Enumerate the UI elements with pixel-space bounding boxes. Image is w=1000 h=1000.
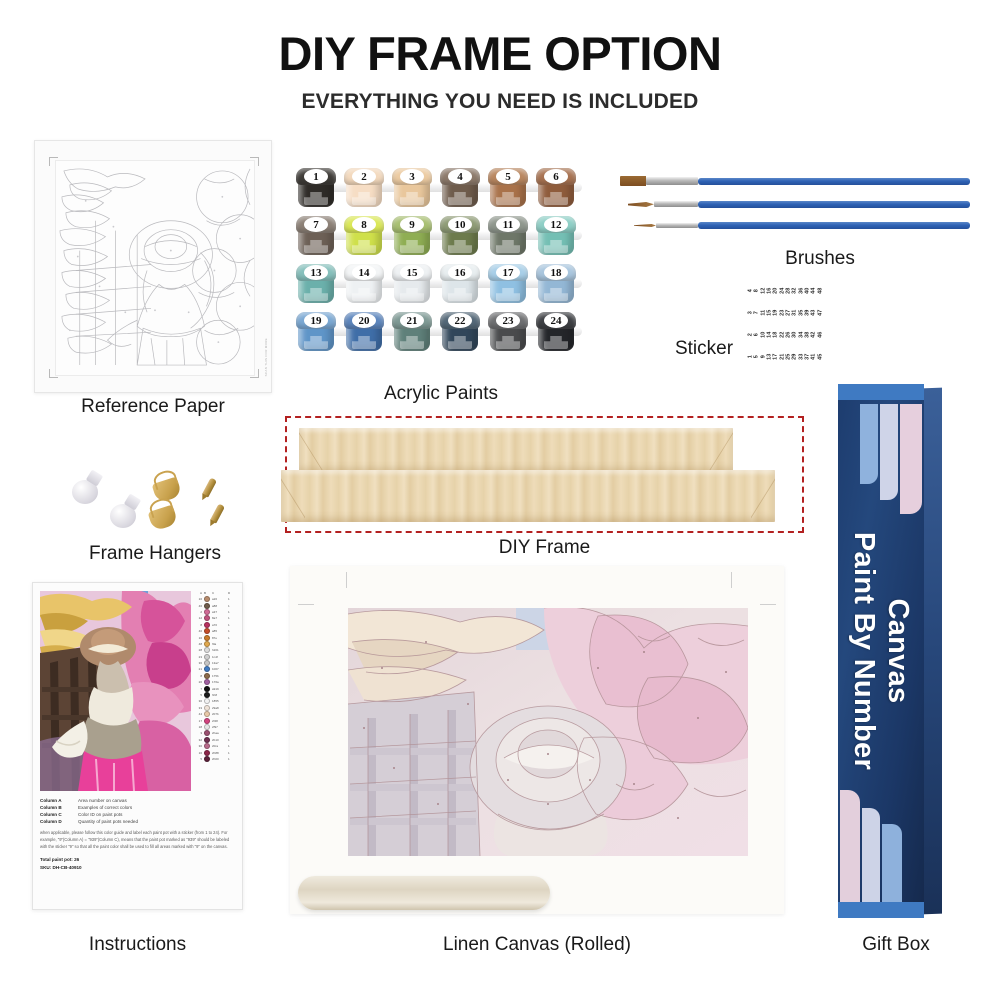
legend-color-swatch (204, 698, 210, 704)
legend-quantity: 1 (228, 629, 233, 633)
gold-d-ring (148, 504, 179, 531)
paint-pot: 4 (440, 168, 480, 208)
total-paint-pot-label: Total paint pot: 26 (40, 856, 235, 864)
legend-area-number: 40 (194, 629, 202, 633)
legend-color-swatch (204, 743, 210, 749)
legend-quantity: 1 (228, 642, 233, 646)
legend-color-code: 20ra (212, 744, 226, 748)
gift-box: Canvas Paint By Number (838, 384, 942, 918)
sticker-number: 30 (793, 332, 799, 338)
paint-pot-number: 11 (496, 217, 520, 232)
instructions-column-line: Column CColor ID on paint pots (40, 811, 235, 818)
canvas-roll (298, 876, 550, 910)
legend-color-code: a37 (212, 610, 226, 614)
wood-frame-bar (281, 470, 775, 522)
legend-color-code: f0a (212, 642, 226, 646)
legend-color-code: 29a8 (212, 706, 226, 710)
caption-linen-canvas: Linen Canvas (Rolled) (290, 934, 784, 956)
legend-color-swatch (204, 730, 210, 736)
legend-area-number: 30 (194, 699, 202, 703)
legend-area-number: 30 (194, 744, 202, 748)
sticker-number: 42 (812, 332, 818, 338)
legend-color-swatch (204, 673, 210, 679)
wood-frame-bar (299, 428, 733, 472)
legend-quantity: 1 (228, 757, 233, 761)
legend-quantity: 1 (228, 648, 233, 652)
legend-color-swatch (204, 628, 210, 634)
legend-area-number: 16 (194, 751, 202, 755)
legend-quantity: 1 (228, 674, 233, 678)
instructions-column-value: Quantity of paint pots needed (78, 818, 138, 825)
legend-color-code: 175b (212, 674, 226, 678)
instructions-column-value: Color ID on paint pots (78, 811, 122, 818)
diy-frame-highlight-box (285, 416, 804, 533)
legend-color-code: a70 (212, 623, 226, 627)
paint-pot-number: 9 (400, 217, 424, 232)
caption-diy-frame: DIY Frame (285, 537, 804, 559)
paint-pot: 1 (296, 168, 336, 208)
legend-color-swatch (204, 641, 210, 647)
instructions-column-definitions: Column AArea number on canvasColumn BExa… (40, 797, 235, 825)
sticker-number: 46 (818, 332, 824, 338)
instructions-column-value: Area number on canvas (78, 797, 127, 804)
legend-area-number: 28 (194, 648, 202, 652)
legend-color-swatch (204, 609, 210, 615)
legend-color-code: 2b10 (212, 738, 226, 742)
legend-area-number: 17 (194, 719, 202, 723)
screw (202, 477, 217, 497)
paint-pot-number: 14 (352, 265, 376, 280)
legend-area-number: 33 (194, 706, 202, 710)
legend-color-swatch (204, 692, 210, 698)
legend-color-code: 2haa (212, 731, 226, 735)
legend-row: 52h001 (194, 756, 235, 762)
paint-pot: 14 (344, 264, 384, 304)
reference-paper-lineart (55, 160, 255, 376)
caption-reference-paper: Reference Paper (34, 396, 272, 418)
sticker-number: 47 (818, 310, 824, 316)
sticker-number: 18 (774, 332, 780, 338)
paint-pot: 3 (392, 168, 432, 208)
legend-color-swatch (204, 654, 210, 660)
legend-color-swatch (204, 679, 210, 685)
legend-color-swatch (204, 666, 210, 672)
paint-pot-number: 24 (544, 313, 568, 328)
paint-pot-number: 5 (496, 169, 520, 184)
paint-pot: 23 (488, 312, 528, 352)
gift-box-front: Canvas Paint By Number (838, 384, 924, 918)
paint-pot: 13 (296, 264, 336, 304)
legend-area-number: 7 (194, 687, 202, 691)
legend-quantity: 1 (228, 687, 233, 691)
legend-area-number: 5 (194, 757, 202, 761)
paint-pot-number: 22 (448, 313, 472, 328)
legend-color-swatch (204, 603, 210, 609)
paint-pot-number: 15 (400, 265, 424, 280)
legend-area-number: 3 (194, 731, 202, 735)
infographic-root: DIY FRAME OPTION EVERYTHING YOU NEED IS … (0, 0, 1000, 1000)
sku-label: SKU: DH-CB-40910 (40, 864, 235, 872)
legend-color-code: 2f97 (212, 725, 226, 729)
legend-header-a: A (194, 591, 202, 595)
page-subtitle: EVERYTHING YOU NEED IS INCLUDED (0, 90, 1000, 114)
sticker-number: 32 (793, 288, 799, 294)
legend-quantity: 1 (228, 725, 233, 729)
instructions-column-line: Column AArea number on canvas (40, 797, 235, 804)
legend-quantity: 1 (228, 623, 233, 627)
paint-pot: 12 (536, 216, 576, 256)
legend-area-number: 36 (194, 661, 202, 665)
legend-area-number: 46 (194, 604, 202, 608)
caption-sticker: Sticker (664, 338, 744, 360)
round-brush (620, 199, 970, 211)
legend-quantity: 1 (228, 610, 233, 614)
paint-pot: 21 (392, 312, 432, 352)
legend-area-number: 20 (194, 680, 202, 684)
legend-color-code: a26 (212, 597, 226, 601)
sticker-number: 5 (755, 354, 761, 360)
paint-pot-number: 7 (304, 217, 328, 232)
sticker-number: 41 (812, 354, 818, 360)
legend-quantity: 1 (228, 636, 233, 640)
instructions-sheet: A B C D 16a26146a8812a371128a718a70140a8… (32, 582, 243, 910)
instructions-column-key: Column C (40, 811, 72, 818)
brushes-group (620, 176, 970, 246)
legend-quantity: 1 (228, 744, 233, 748)
sticker-number: 44 (812, 288, 818, 294)
caption-brushes: Brushes (760, 248, 880, 270)
legend-area-number: 5 (194, 693, 202, 697)
sticker-number: 43 (812, 310, 818, 316)
sticker-number: 48 (818, 288, 824, 294)
caption-instructions: Instructions (32, 934, 243, 956)
linen-canvas-rolled (290, 566, 784, 914)
legend-header-row: A B C D (194, 591, 235, 595)
legend-quantity: 1 (228, 604, 233, 608)
instructions-color-legend: A B C D 16a26146a8812a371128a718a70140a8… (191, 591, 235, 791)
paint-pot-number: 21 (400, 313, 424, 328)
instructions-column-key: Column A (40, 797, 72, 804)
paint-pot: 6 (536, 168, 576, 208)
legend-color-code: 2h00 (212, 757, 226, 761)
legend-quantity: 1 (228, 597, 233, 601)
frame-hangers-group (66, 470, 246, 535)
linen-canvas-lineart (348, 608, 748, 856)
legend-color-swatch (204, 622, 210, 628)
caption-acrylic-paints: Acrylic Paints (296, 383, 586, 405)
sticker-number: 17 (774, 354, 780, 360)
legend-quantity: 1 (228, 655, 233, 659)
paint-pot-number: 4 (448, 169, 472, 184)
sticker-sheet: 1234567891011121314151617181920212223242… (748, 288, 824, 360)
page-title: DIY FRAME OPTION (0, 26, 1000, 81)
paint-pot: 19 (296, 312, 336, 352)
legend-area-number: 48 (194, 642, 202, 646)
legend-area-number: 23 (194, 655, 202, 659)
sticker-number: 7 (755, 310, 761, 316)
sticker-number: 31 (793, 310, 799, 316)
legend-color-swatch (204, 686, 210, 692)
legend-color-code: a88 (212, 604, 226, 608)
sticker-number: 20 (774, 288, 780, 294)
acrylic-paints-group: 123456789101112131415161718192021222324 (296, 166, 586, 358)
legend-area-number: 8 (194, 674, 202, 678)
legend-color-code: 2h88 (212, 751, 226, 755)
legend-color-code: 1n4f (212, 655, 226, 659)
legend-color-swatch (204, 737, 210, 743)
legend-color-code: 207b (212, 712, 226, 716)
paint-pot: 2 (344, 168, 384, 208)
legend-color-code: 1855 (212, 699, 226, 703)
paint-pot-number: 10 (448, 217, 472, 232)
instructions-column-line: Column BExamples of correct colors (40, 804, 235, 811)
reference-paper-side-text: SCAN THIS FOR MORE (264, 338, 268, 376)
legend-quantity: 1 (228, 712, 233, 716)
legend-color-swatch (204, 615, 210, 621)
sticker-column: 45464748 (818, 288, 824, 360)
gift-box-label: Canvas Paint By Number (838, 384, 924, 918)
white-hanger (72, 480, 98, 504)
paint-pot: 20 (344, 312, 384, 352)
legend-area-number: 2 (194, 610, 202, 614)
legend-color-code: 8a7 (212, 616, 226, 620)
gift-box-side (922, 388, 942, 915)
legend-quantity: 1 (228, 616, 233, 620)
paint-pot-number: 16 (448, 265, 472, 280)
legend-quantity: 1 (228, 680, 233, 684)
instructions-column-line: Column DQuantity of paint pots needed (40, 818, 235, 825)
legend-color-code: 87e (212, 636, 226, 640)
legend-area-number: 44 (194, 712, 202, 716)
paint-pot: 18 (536, 264, 576, 304)
legend-quantity: 1 (228, 751, 233, 755)
sticker-number: 45 (818, 354, 824, 360)
caption-gift-box: Gift Box (836, 934, 956, 956)
legend-area-number: 12 (194, 616, 202, 620)
legend-quantity: 1 (228, 661, 233, 665)
paint-pot-number: 13 (304, 265, 328, 280)
legend-color-code: 176a (212, 680, 226, 684)
flat-brush (620, 176, 970, 188)
paint-pot: 10 (440, 216, 480, 256)
paint-pot-number: 8 (352, 217, 376, 232)
legend-area-number: 8 (194, 623, 202, 627)
legend-color-swatch (204, 635, 210, 641)
paint-pot: 5 (488, 168, 528, 208)
legend-header-b: B (204, 591, 210, 595)
paint-pot-number: 23 (496, 313, 520, 328)
sticker-number: 6 (755, 332, 761, 338)
instructions-column-key: Column B (40, 804, 72, 811)
legend-area-number: 21 (194, 667, 202, 671)
paint-pot-number: 6 (544, 169, 568, 184)
legend-color-code: a919 (212, 687, 226, 691)
paint-pot: 24 (536, 312, 576, 352)
legend-color-swatch (204, 711, 210, 717)
paint-pot: 17 (488, 264, 528, 304)
legend-color-code: 1007 (212, 667, 226, 671)
paint-pot: 16 (440, 264, 480, 304)
legend-quantity: 1 (228, 738, 233, 742)
legend-quantity: 1 (228, 667, 233, 671)
legend-area-number: 10 (194, 636, 202, 640)
legend-quantity: 1 (228, 693, 233, 697)
legend-quantity: 1 (228, 731, 233, 735)
instructions-column-key: Column D (40, 818, 72, 825)
legend-color-swatch (204, 705, 210, 711)
paint-pot-number: 12 (544, 217, 568, 232)
paint-pot: 8 (344, 216, 384, 256)
liner-brush (620, 220, 970, 232)
legend-quantity: 1 (228, 706, 233, 710)
legend-quantity: 1 (228, 719, 233, 723)
paint-pot: 15 (392, 264, 432, 304)
legend-color-swatch (204, 718, 210, 724)
legend-color-swatch (204, 647, 210, 653)
legend-area-number: 32 (194, 738, 202, 742)
paint-pot-number: 19 (304, 313, 328, 328)
legend-quantity: 1 (228, 699, 233, 703)
caption-frame-hangers: Frame Hangers (40, 543, 270, 565)
sticker-number: 19 (774, 310, 780, 316)
legend-color-swatch (204, 660, 210, 666)
paint-pot: 7 (296, 216, 336, 256)
legend-color-code: hh8 (212, 693, 226, 697)
legend-header-d: D (228, 591, 233, 595)
white-hanger (110, 504, 136, 528)
paint-pot: 9 (392, 216, 432, 256)
legend-color-code: h201 (212, 648, 226, 652)
paint-pot-number: 18 (544, 265, 568, 280)
reference-paper-sheet: SCAN THIS FOR MORE (34, 140, 272, 393)
paint-pot: 11 (488, 216, 528, 256)
legend-area-number: 18 (194, 725, 202, 729)
sticker-number: 8 (755, 288, 761, 294)
instructions-paragraph: when applicable, please follow this colo… (40, 830, 235, 850)
paint-pot-number: 2 (352, 169, 376, 184)
legend-color-swatch (204, 596, 210, 602)
paint-pot-number: 3 (400, 169, 424, 184)
legend-area-number: 16 (194, 597, 202, 601)
legend-color-code: 2f48 (212, 719, 226, 723)
legend-color-swatch (204, 750, 210, 756)
sticker-number: 29 (793, 354, 799, 360)
legend-color-swatch (204, 724, 210, 730)
legend-header-c: C (212, 591, 226, 595)
legend-color-swatch (204, 756, 210, 762)
screw (210, 503, 225, 523)
legend-color-code: 13a7 (212, 661, 226, 665)
legend-color-code: a85 (212, 629, 226, 633)
paint-pot-number: 20 (352, 313, 376, 328)
paint-pot-number: 1 (304, 169, 328, 184)
paint-pot: 22 (440, 312, 480, 352)
paint-pot-number: 17 (496, 265, 520, 280)
instructions-painting-preview (40, 591, 191, 791)
instructions-column-value: Examples of correct colors (78, 804, 132, 811)
